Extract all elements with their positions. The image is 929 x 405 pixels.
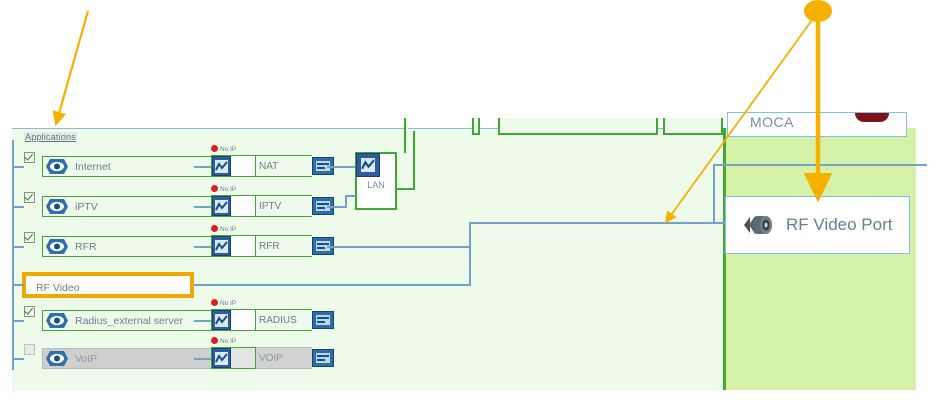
checkbox-voip[interactable] [24, 344, 35, 355]
network-graph-icon [356, 153, 380, 177]
no-ip-dot-icon [211, 299, 218, 306]
no-ip-dot-icon [211, 185, 218, 192]
service-blank-cell [231, 236, 255, 256]
service-name-radius: RADIUS [256, 309, 312, 331]
wire-rfr-run-h [327, 246, 471, 248]
wire-rfr-run-h2 [469, 222, 725, 224]
top-clipped-box-3 [663, 118, 723, 135]
network-graph-icon [212, 236, 231, 256]
wire-rfport-top-h [713, 164, 927, 166]
wire-iptv-to-lan-v [345, 196, 347, 207]
wire-rfvideo-in [12, 284, 24, 286]
wire-left-spine [12, 140, 14, 370]
wire-rfport-drop-v [713, 165, 715, 223]
service-group-nat: NAT [211, 155, 334, 177]
eye-icon [45, 198, 69, 215]
wire-iptv-to-lan-h [327, 206, 347, 208]
right-device-panel [723, 128, 916, 390]
service-name-rfr: RFR [256, 235, 312, 257]
wire-rfr-in [12, 246, 24, 248]
status-no-ip-rfr: No IP [211, 225, 236, 233]
status-no-ip-iptv: No IP [211, 185, 236, 193]
checkbox-radius[interactable] [24, 306, 35, 317]
no-ip-dot-icon [211, 225, 218, 232]
network-graph-icon [212, 196, 231, 216]
status-no-ip-voip: No IP [211, 337, 236, 345]
section-label-applications: Applications [24, 132, 77, 142]
wire-voip-in [12, 358, 24, 360]
app-box-iptv[interactable]: iPTV [42, 196, 212, 217]
wire-internet-to-nat [194, 166, 212, 168]
moca-label: MOCA [750, 114, 794, 130]
network-graph-icon [212, 156, 231, 176]
callout-dot [804, 0, 832, 22]
service-blank-cell [231, 196, 255, 216]
checkbox-internet[interactable] [24, 152, 35, 163]
eye-icon [45, 158, 69, 175]
app-label: Radius_external server [75, 315, 183, 327]
service-group-radius: RADIUS [211, 309, 334, 331]
rf-video-port-label: RF Video Port [786, 215, 892, 235]
app-box-rfr[interactable]: RFR [42, 236, 212, 257]
app-label: RFR [75, 241, 97, 253]
lan-node[interactable]: LAN [355, 152, 397, 210]
wire-internet-in [12, 166, 24, 168]
wire-rfr-to-service [194, 246, 212, 248]
status-no-ip-radius: No IP [211, 299, 236, 307]
eye-icon [45, 312, 69, 329]
service-blank-cell [231, 348, 255, 368]
network-graph-icon [212, 310, 231, 330]
arrow-to-applications [56, 11, 88, 124]
rf-video-highlight[interactable]: RF Video [22, 272, 194, 298]
lan-label: LAN [357, 180, 395, 190]
wire-rfport-feed-h [700, 222, 725, 224]
service-name-nat: NAT [256, 155, 312, 177]
top-clipped-box-1 [472, 118, 480, 135]
app-label: iPTV [75, 201, 98, 213]
service-name-iptv: IPTV [256, 195, 312, 217]
app-label: Internet [75, 161, 111, 173]
no-ip-dot-icon [211, 145, 218, 152]
service-blank-cell [231, 310, 255, 330]
app-box-voip[interactable]: VoIP [42, 348, 212, 369]
service-group-voip: VOIP [211, 347, 334, 369]
diagram-canvas: Applications MOCA Internet No IP [0, 0, 929, 405]
app-label: VoIP [75, 353, 97, 365]
moca-node[interactable]: MOCA [727, 112, 907, 137]
network-graph-icon [212, 348, 231, 368]
wire-rfvideo-run-v [469, 222, 471, 285]
wire-iptv-in [12, 206, 24, 208]
app-box-internet[interactable]: Internet [42, 156, 212, 177]
status-no-ip-internet: No IP [211, 145, 236, 153]
top-clipped-box-4 [404, 118, 408, 153]
service-icon-group-rfr[interactable] [211, 235, 256, 257]
service-blank-cell [231, 156, 255, 176]
port-icon[interactable] [312, 311, 334, 329]
top-clipped-box-2 [498, 118, 658, 135]
no-ip-dot-icon [211, 337, 218, 344]
wire-radius-in [12, 320, 24, 322]
service-icon-group-nat[interactable] [211, 155, 256, 177]
wire-nat-to-lan [327, 166, 355, 168]
wire-voip-to-service [194, 358, 212, 360]
eye-icon [45, 350, 69, 367]
wire-iptv-to-service [194, 206, 212, 208]
coax-connector-icon [740, 212, 776, 238]
service-name-voip: VOIP [256, 347, 312, 369]
eye-icon [45, 238, 69, 255]
app-box-radius[interactable]: Radius_external server [42, 310, 212, 331]
service-icon-group-radius[interactable] [211, 309, 256, 331]
app-label: RF Video [36, 282, 80, 294]
service-icon-group-voip[interactable] [211, 347, 256, 369]
gwire-lan-out-v [413, 131, 415, 189]
wire-radius-to-service [194, 320, 212, 322]
moca-connector-icon [855, 113, 889, 122]
checkbox-rfr[interactable] [24, 232, 35, 243]
service-group-iptv: IPTV [211, 195, 334, 217]
checkbox-iptv[interactable] [24, 192, 35, 203]
service-group-rfr: RFR [211, 235, 334, 257]
rf-video-port-card[interactable]: RF Video Port [725, 196, 910, 254]
wire-rfvideo-run-h [194, 284, 471, 286]
service-icon-group-iptv[interactable] [211, 195, 256, 217]
port-icon[interactable] [312, 349, 334, 367]
